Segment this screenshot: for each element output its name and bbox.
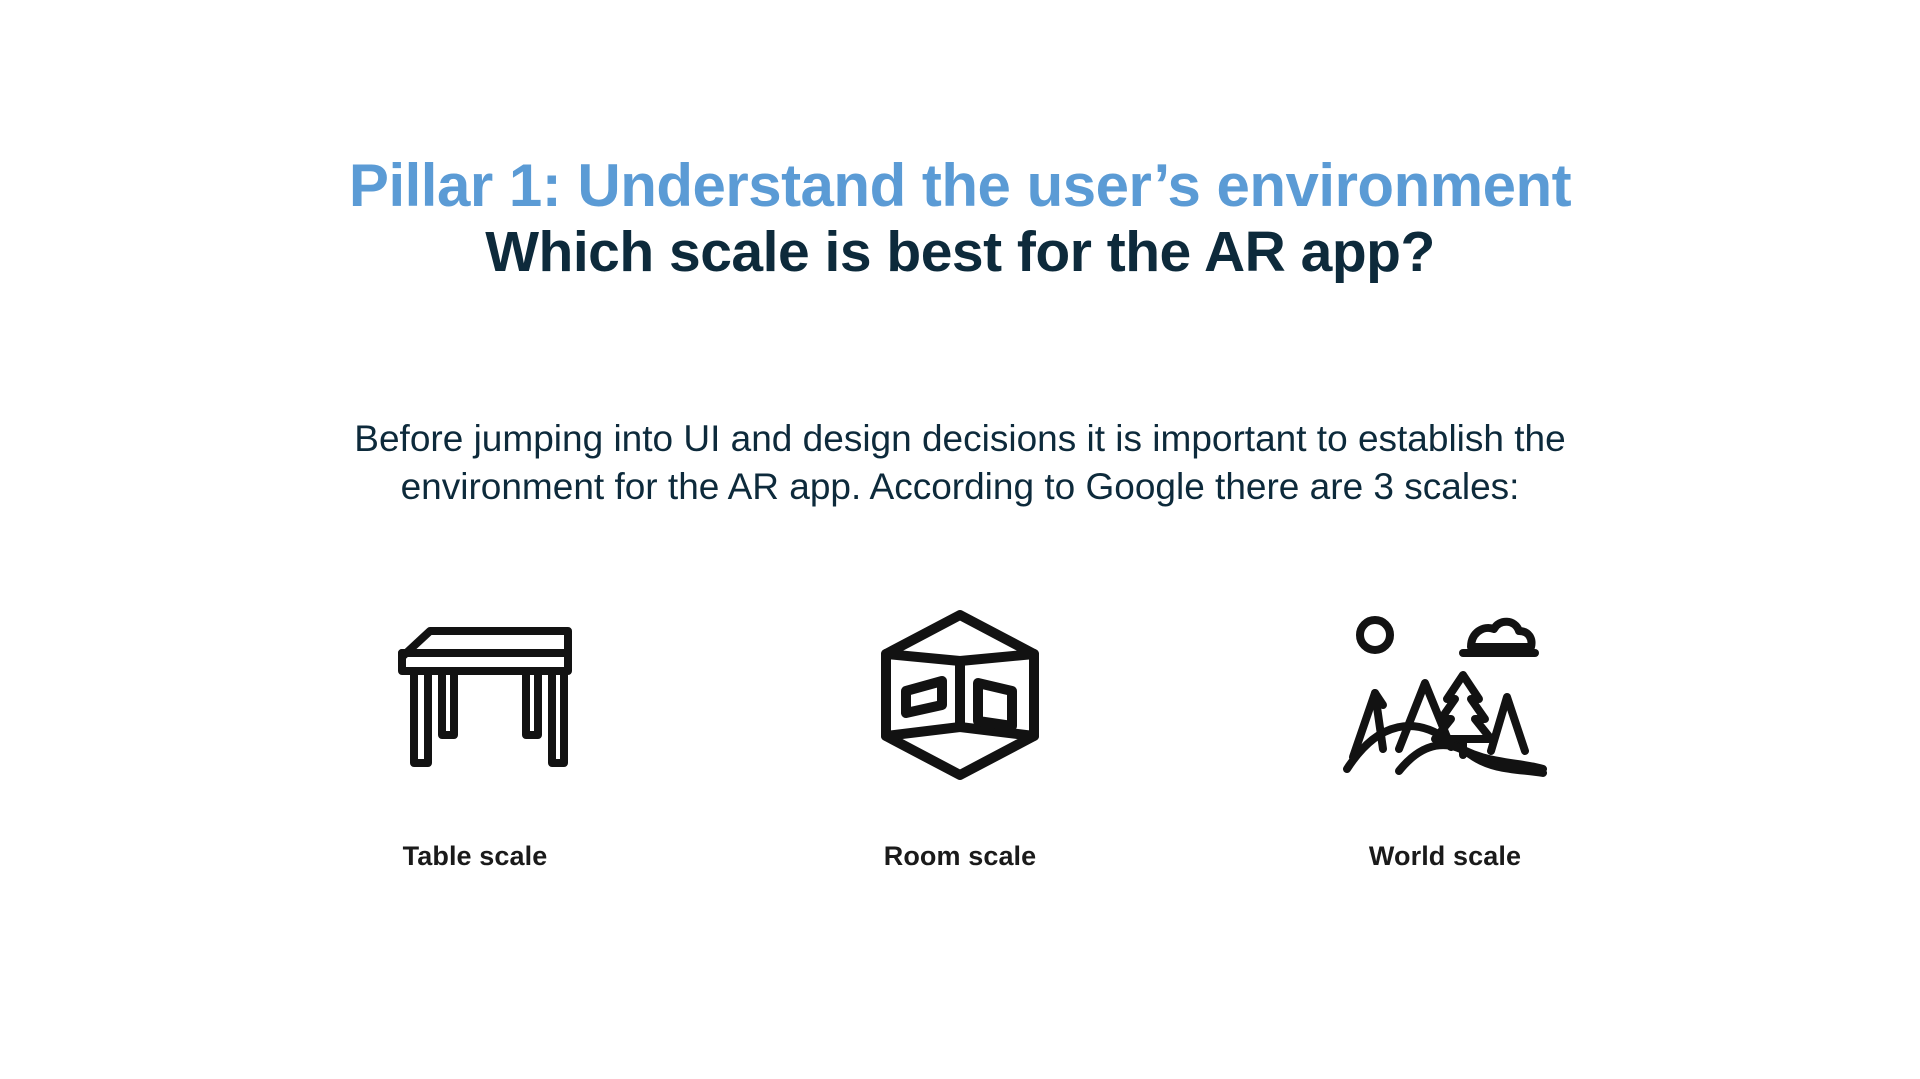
scale-item-room: Room scale — [795, 595, 1125, 872]
page-title-primary: Pillar 1: Understand the user’s environm… — [0, 155, 1920, 216]
body-paragraph-line-2: environment for the AR app. According to… — [210, 463, 1710, 511]
world-scale-icon — [1339, 595, 1551, 795]
room-scale-icon — [874, 595, 1046, 795]
scale-caption-table: Table scale — [403, 841, 548, 872]
scale-item-table: Table scale — [310, 595, 640, 872]
body-paragraph-line-1: Before jumping into UI and design decisi… — [210, 415, 1710, 463]
title-block: Pillar 1: Understand the user’s environm… — [0, 155, 1920, 284]
page-title-secondary: Which scale is best for the AR app? — [0, 222, 1920, 284]
table-scale-icon — [370, 595, 580, 795]
scale-caption-world: World scale — [1369, 841, 1521, 872]
slide-canvas: Pillar 1: Understand the user’s environm… — [0, 0, 1920, 1079]
body-paragraph: Before jumping into UI and design decisi… — [210, 415, 1710, 511]
scale-icons-row: Table scale — [310, 595, 1610, 872]
scale-caption-room: Room scale — [884, 841, 1037, 872]
scale-item-world: World scale — [1280, 595, 1610, 872]
